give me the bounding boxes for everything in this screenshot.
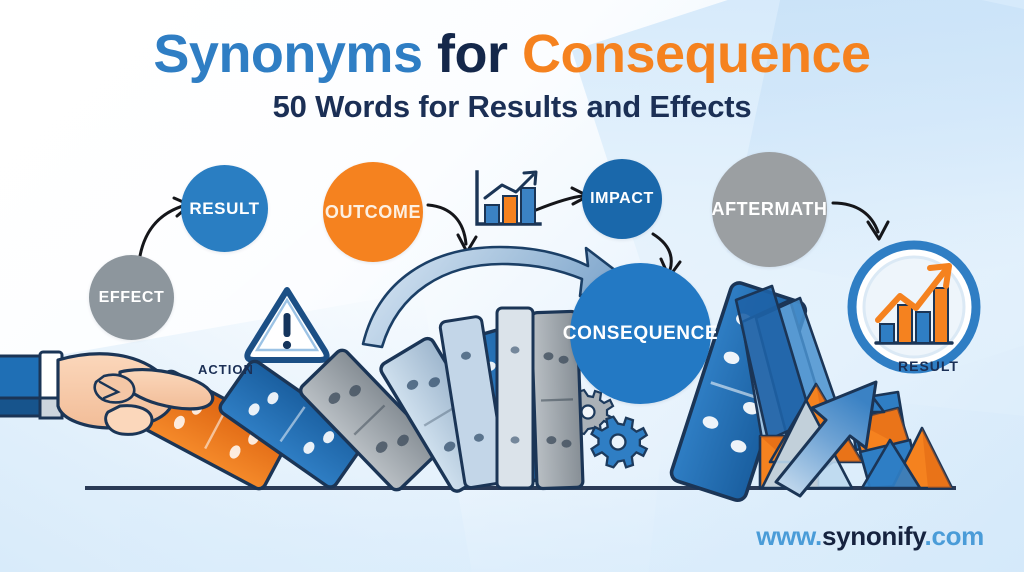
title-part-for: for: [437, 24, 507, 84]
page-subtitle: 50 Words for Results and Effects: [0, 89, 1024, 125]
word-circle-result-label: RESULT: [189, 199, 259, 219]
page-title: Synonyms for Consequence: [0, 26, 1024, 83]
url-prefix: www.: [756, 521, 822, 551]
word-circle-impact-label: IMPACT: [590, 190, 654, 208]
word-circle-impact[interactable]: IMPACT: [582, 159, 662, 239]
word-circle-result[interactable]: RESULT: [181, 165, 268, 252]
title-part-synonyms: Synonyms: [153, 24, 422, 84]
url-suffix: .com: [925, 521, 984, 551]
url-name: synonify: [822, 521, 925, 551]
warning-triangle-icon: [247, 290, 326, 360]
word-circle-effect-label: EFFECT: [99, 289, 165, 307]
result-chart-badge-icon: [852, 245, 976, 369]
bar-chart-growth-icon: [477, 172, 540, 224]
word-circle-aftermath-label: AFTERMATH: [711, 199, 827, 220]
word-circle-aftermath[interactable]: AFTERMATH: [712, 152, 827, 267]
header-block: Synonyms for Consequence 50 Words for Re…: [0, 26, 1024, 125]
action-label: ACTION: [198, 362, 254, 377]
arrow-outcome-to-chart: [428, 205, 476, 252]
result-badge-label: RESULT: [898, 358, 959, 374]
word-circle-outcome[interactable]: OUTCOME: [323, 162, 423, 262]
title-part-consequence: Consequence: [522, 24, 871, 84]
arrow-chart-to-impact: [536, 188, 588, 210]
word-circle-consequence[interactable]: CONSEQUENCE: [570, 263, 711, 404]
infographic-canvas: Synonyms for Consequence 50 Words for Re…: [0, 0, 1024, 572]
word-circle-effect[interactable]: EFFECT: [89, 255, 174, 340]
word-circle-consequence-label: CONSEQUENCE: [563, 323, 718, 345]
website-url[interactable]: www.synonify.com: [756, 521, 984, 552]
arrow-aftermath-to-result: [833, 203, 888, 239]
word-circle-outcome-label: OUTCOME: [325, 202, 421, 223]
